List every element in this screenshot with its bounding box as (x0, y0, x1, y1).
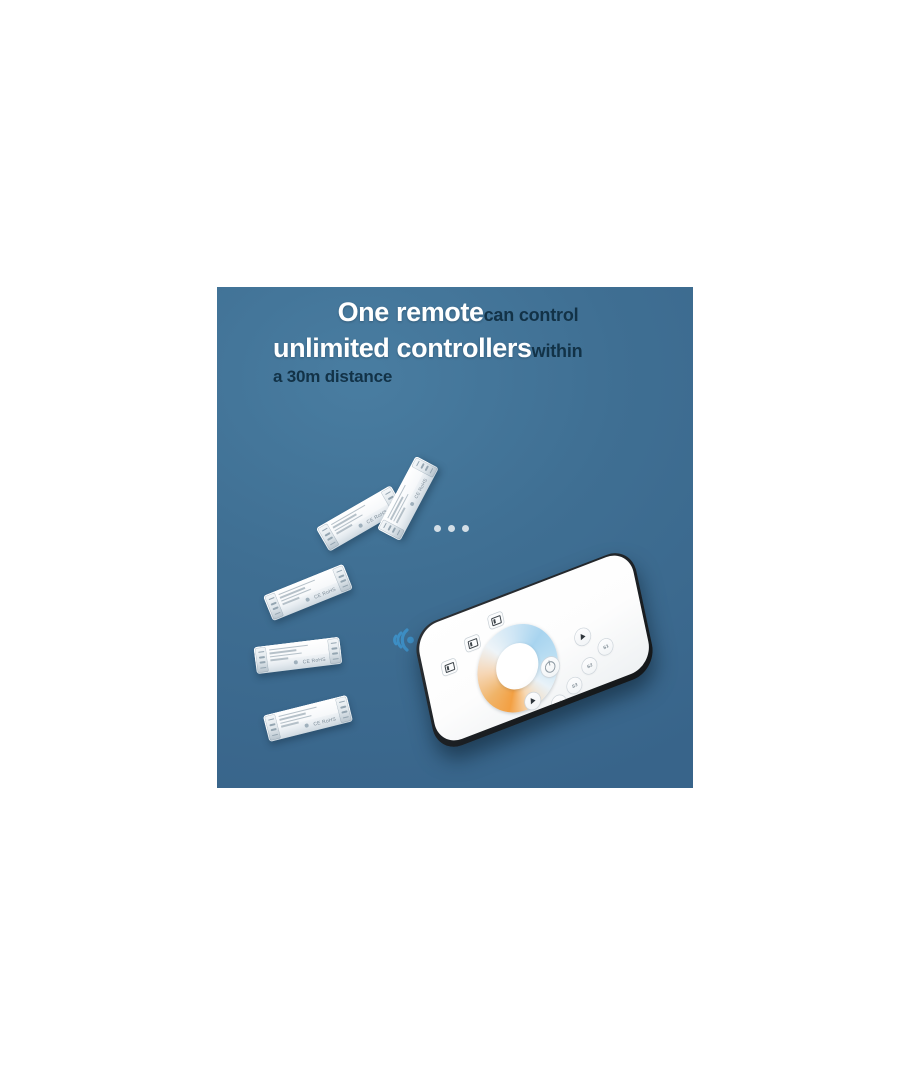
power-icon (544, 660, 557, 675)
ellipsis-dot (462, 525, 469, 532)
headline-text-distance: a 30m distance (273, 367, 392, 386)
headline-line-3: a 30m distance (251, 366, 681, 388)
zone-2-button[interactable] (464, 634, 481, 652)
zone-1-button[interactable] (441, 658, 458, 676)
led-controller-module-4: CE RoHS (254, 637, 343, 674)
rf-signal-waves-icon (374, 621, 416, 659)
zone-icon (467, 638, 478, 650)
headline-text-can-control: can control (484, 305, 579, 325)
ellipsis-dot (448, 525, 455, 532)
ellipsis-dot (434, 525, 441, 532)
headline-block: One remotecan control unlimited controll… (251, 295, 681, 389)
triangle-up-icon (580, 633, 585, 640)
zone-icon (444, 661, 455, 673)
ce-rohs-mark: CE RoHS (302, 657, 326, 666)
headline-emphasis-one-remote: One remote (338, 297, 484, 327)
led-controller-module-5: CE RoHS (263, 695, 353, 742)
terminal-block-right (335, 696, 352, 723)
brightness-up-button[interactable] (574, 626, 592, 648)
product-feature-banner: One remotecan control unlimited controll… (217, 287, 693, 788)
rf-remote-control: S1 S2 S3 S4 (412, 546, 658, 755)
zone-3-button[interactable] (488, 611, 505, 629)
more-controllers-indicator (434, 525, 469, 532)
scene-button-s2[interactable]: S2 (581, 656, 598, 676)
headline-line-1: One remotecan control (251, 295, 681, 331)
scene-button-s1[interactable]: S1 (597, 637, 614, 657)
led-controller-module-3: CE RoHS (263, 564, 353, 621)
scene-button-s3[interactable]: S3 (566, 675, 583, 695)
headline-line-2: unlimited controllerswithin (251, 331, 681, 367)
zone-icon (490, 615, 501, 627)
headline-text-within: within (532, 341, 583, 361)
triangle-down-icon (530, 697, 535, 704)
headline-emphasis-unlimited-controllers: unlimited controllers (273, 333, 532, 363)
